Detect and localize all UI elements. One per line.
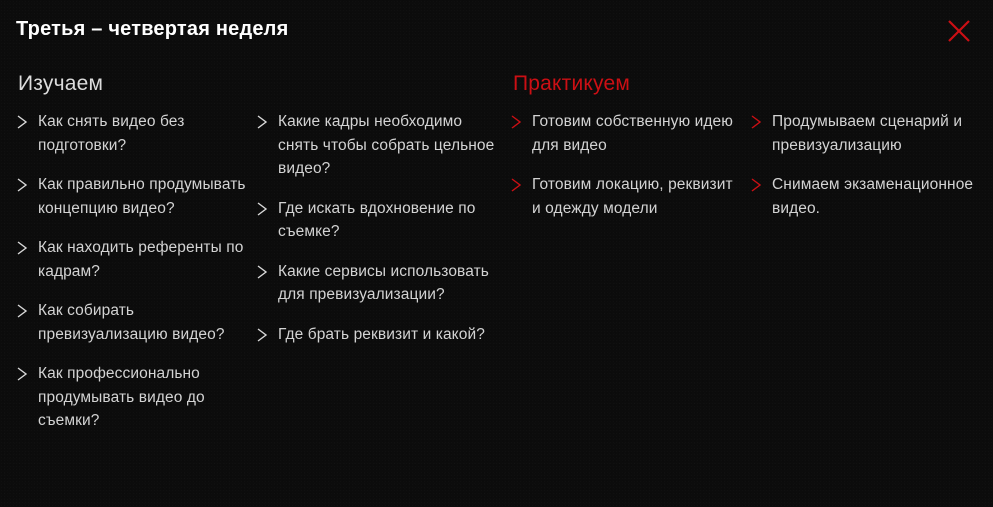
list-item: Где брать реквизит и какой? xyxy=(256,323,504,347)
chevron-right-icon xyxy=(256,326,269,344)
list-item-label: Где искать вдохновение по съемке? xyxy=(278,197,504,244)
chevron-right-icon xyxy=(256,113,269,131)
chevron-right-icon xyxy=(256,200,269,218)
list-item-label: Готовим локацию, реквизит и одежду модел… xyxy=(532,173,744,220)
chevron-right-icon xyxy=(16,176,29,194)
list-item-label: Как снять видео без подготовки? xyxy=(38,110,248,157)
list-item-label: Снимаем экзаменационное видео. xyxy=(772,173,980,220)
list-item-label: Какие кадры необходимо снять чтобы собра… xyxy=(278,110,504,181)
section-heading-practice: Практикуем xyxy=(513,72,630,96)
practice-column-2: Продумываем сценарий и превизуализацию С… xyxy=(750,110,980,236)
list-item-label: Где брать реквизит и какой? xyxy=(278,323,485,347)
list-item: Снимаем экзаменационное видео. xyxy=(750,173,980,220)
chevron-right-icon xyxy=(16,113,29,131)
list-item: Как профессионально продумывать видео до… xyxy=(16,362,248,433)
chevron-right-icon xyxy=(510,176,523,194)
learn-column-2: Какие кадры необходимо снять чтобы собра… xyxy=(256,110,504,362)
list-item-label: Как правильно продумывать концепцию виде… xyxy=(38,173,248,220)
list-item-label: Какие сервисы использовать для превизуал… xyxy=(278,260,504,307)
list-item: Как правильно продумывать концепцию виде… xyxy=(16,173,248,220)
learn-column-1: Как снять видео без подготовки? Как прав… xyxy=(16,110,248,449)
list-item: Какие сервисы использовать для превизуал… xyxy=(256,260,504,307)
page-title: Третья – четвертая неделя xyxy=(16,18,288,41)
close-icon[interactable] xyxy=(944,16,974,46)
list-item: Как собирать превизуализацию видео? xyxy=(16,299,248,346)
chevron-right-icon xyxy=(16,365,29,383)
list-item: Готовим локацию, реквизит и одежду модел… xyxy=(510,173,744,220)
list-item: Как находить референты по кадрам? xyxy=(16,236,248,283)
list-item-label: Готовим собственную идею для видео xyxy=(532,110,744,157)
chevron-right-icon xyxy=(510,113,523,131)
list-item: Готовим собственную идею для видео xyxy=(510,110,744,157)
list-item-label: Продумываем сценарий и превизуализацию xyxy=(772,110,980,157)
section-heading-learn: Изучаем xyxy=(18,72,103,96)
list-item: Продумываем сценарий и превизуализацию xyxy=(750,110,980,157)
list-item: Какие кадры необходимо снять чтобы собра… xyxy=(256,110,504,181)
chevron-right-icon xyxy=(750,176,763,194)
practice-column-1: Готовим собственную идею для видео Готов… xyxy=(510,110,744,236)
list-item: Как снять видео без подготовки? xyxy=(16,110,248,157)
list-item: Где искать вдохновение по съемке? xyxy=(256,197,504,244)
chevron-right-icon xyxy=(16,239,29,257)
list-item-label: Как профессионально продумывать видео до… xyxy=(38,362,248,433)
list-item-label: Как находить референты по кадрам? xyxy=(38,236,248,283)
week-schedule-panel: Третья – четвертая неделя Изучаем Практи… xyxy=(0,0,993,507)
chevron-right-icon xyxy=(750,113,763,131)
chevron-right-icon xyxy=(256,263,269,281)
list-item-label: Как собирать превизуализацию видео? xyxy=(38,299,248,346)
chevron-right-icon xyxy=(16,302,29,320)
